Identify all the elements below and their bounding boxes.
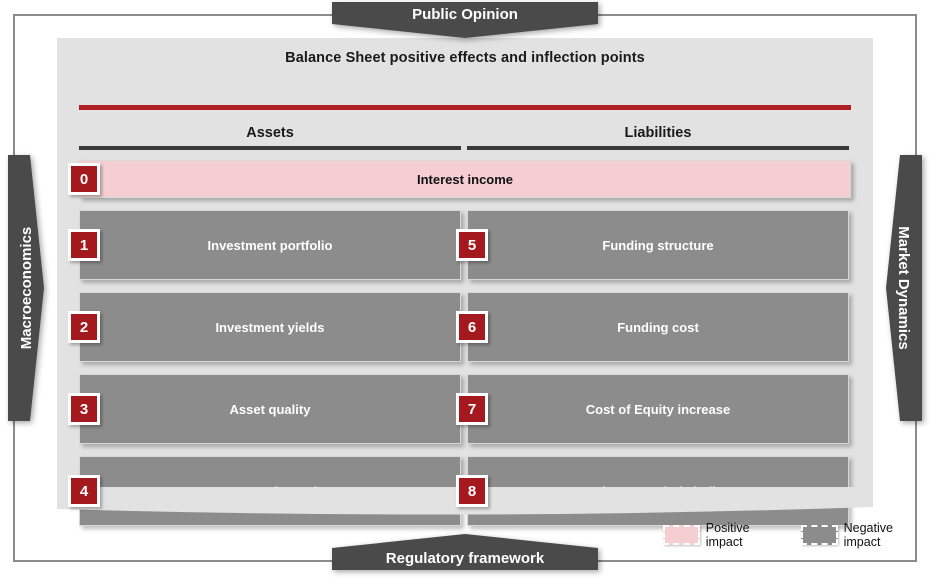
legend: Positive impact Negative impact — [663, 523, 930, 547]
badge-3[interactable]: 3 — [68, 393, 100, 425]
item-label: Funding structure — [602, 238, 713, 253]
badge-number: 1 — [80, 237, 88, 254]
badge-number: 2 — [80, 319, 88, 336]
badge-number: 5 — [468, 237, 476, 254]
badge-5[interactable]: 5 — [456, 229, 488, 261]
item-label: Investment portfolio — [208, 238, 333, 253]
legend-swatch-positive — [663, 525, 700, 545]
item-box-investment-portfolio[interactable]: Investment portfolio — [79, 210, 461, 280]
badge-4[interactable]: 4 — [68, 475, 100, 507]
legend-label-positive: Positive impact — [706, 521, 787, 549]
badge-7[interactable]: 7 — [456, 393, 488, 425]
banner-macroeconomics: Macroeconomics — [8, 155, 44, 421]
badge-number: 4 — [80, 483, 88, 500]
item-label: Cost of Equity increase — [586, 402, 730, 417]
badge-number: 8 — [468, 483, 476, 500]
item-box-funding-cost[interactable]: Funding cost — [467, 292, 849, 362]
item-box-funding-structure[interactable]: Funding structure — [467, 210, 849, 280]
item-box-cost-of-equity-increase[interactable]: Cost of Equity increase — [467, 374, 849, 444]
item-box-asset-quality[interactable]: Asset quality — [79, 374, 461, 444]
badge-number: 0 — [80, 171, 88, 188]
badge-number: 7 — [468, 401, 476, 418]
badge-8[interactable]: 8 — [456, 475, 488, 507]
item-label: Asset quality — [230, 402, 311, 417]
banner-label: Market Dynamics — [892, 155, 916, 421]
banner-market-dynamics: Market Dynamics — [886, 155, 922, 421]
banner-label: Macroeconomics — [14, 155, 38, 421]
legend-swatch-negative — [801, 525, 838, 545]
legend-label-negative: Negative impact — [844, 521, 930, 549]
title-underline-rule — [79, 105, 851, 110]
item-box-investment-yields[interactable]: Investment yields — [79, 292, 461, 362]
banner-public-opinion: Public Opinion — [332, 2, 598, 38]
banner-label: Public Opinion — [332, 2, 598, 26]
badge-0[interactable]: 0 — [68, 163, 100, 195]
column-rule-liabilities — [467, 146, 849, 150]
banner-regulatory-framework: Regulatory framework — [332, 534, 598, 570]
content-panel: Balance Sheet positive effects and infle… — [57, 38, 873, 506]
page-title: Balance Sheet positive effects and infle… — [57, 50, 873, 66]
item-label: Investment yields — [215, 320, 324, 335]
badge-2[interactable]: 2 — [68, 311, 100, 343]
badge-number: 6 — [468, 319, 476, 336]
column-header-assets: Assets — [79, 125, 461, 141]
item-box-interest-income[interactable]: Interest income — [79, 160, 851, 198]
column-header-liabilities: Liabilities — [467, 125, 849, 141]
diagram-stage: Balance Sheet positive effects and infle… — [0, 0, 930, 578]
badge-number: 3 — [80, 401, 88, 418]
item-label: Funding cost — [617, 320, 699, 335]
item-label: Interest income — [417, 172, 513, 187]
badge-6[interactable]: 6 — [456, 311, 488, 343]
badge-1[interactable]: 1 — [68, 229, 100, 261]
column-rule-assets — [79, 146, 461, 150]
banner-label: Regulatory framework — [332, 546, 598, 570]
